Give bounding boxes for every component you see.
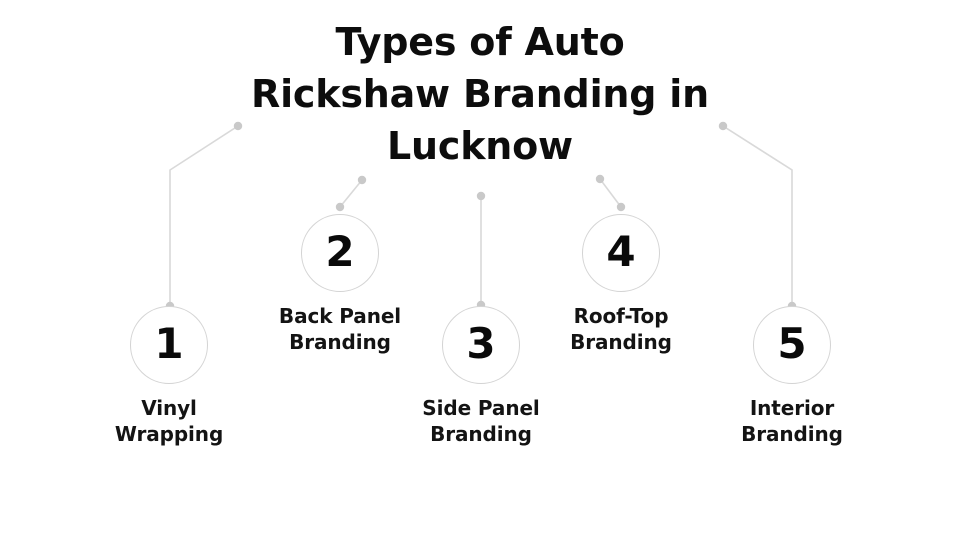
step-label-3-line-2: Branding: [381, 421, 581, 447]
step-label-1-line-2: Wrapping: [69, 421, 269, 447]
step-label-1-line-1: Vinyl: [69, 395, 269, 421]
step-circle-1[interactable]: 1: [130, 306, 208, 384]
title-line-1: Types of Auto: [180, 16, 780, 68]
connector-dot-step-2-start: [358, 176, 366, 184]
step-label-4-line-1: Roof-Top: [521, 303, 721, 329]
title-line-2: Rickshaw Branding in: [180, 68, 780, 120]
step-circle-4[interactable]: 4: [582, 214, 660, 292]
page-title: Types of Auto Rickshaw Branding in Luckn…: [180, 16, 780, 172]
step-item-1[interactable]: 1 Vinyl Wrapping: [69, 306, 269, 447]
step-number-1: 1: [154, 323, 183, 365]
connector-dot-step-3-start: [477, 192, 485, 200]
step-item-4[interactable]: 4 Roof-Top Branding: [521, 214, 721, 355]
step-circle-5[interactable]: 5: [753, 306, 831, 384]
infographic-canvas: Types of Auto Rickshaw Branding in Luckn…: [0, 0, 960, 540]
step-label-5: Interior Branding: [692, 395, 892, 447]
step-label-4-line-2: Branding: [521, 329, 721, 355]
step-number-4: 4: [606, 231, 635, 273]
step-label-3: Side Panel Branding: [381, 395, 581, 447]
connector-dot-step-4-start: [596, 175, 604, 183]
step-number-5: 5: [777, 323, 806, 365]
step-number-2: 2: [325, 231, 354, 273]
title-line-3: Lucknow: [180, 120, 780, 172]
step-number-3: 3: [466, 323, 495, 365]
step-label-4: Roof-Top Branding: [521, 303, 721, 355]
step-item-5[interactable]: 5 Interior Branding: [692, 306, 892, 447]
step-label-5-line-1: Interior: [692, 395, 892, 421]
step-label-5-line-2: Branding: [692, 421, 892, 447]
connector-line-step-2: [340, 180, 362, 207]
connector-dot-step-2-end: [336, 203, 344, 211]
step-label-1: Vinyl Wrapping: [69, 395, 269, 447]
connector-line-step-4: [600, 179, 621, 207]
step-circle-2[interactable]: 2: [301, 214, 379, 292]
connector-dot-step-4-end: [617, 203, 625, 211]
step-label-3-line-1: Side Panel: [381, 395, 581, 421]
step-circle-3[interactable]: 3: [442, 306, 520, 384]
